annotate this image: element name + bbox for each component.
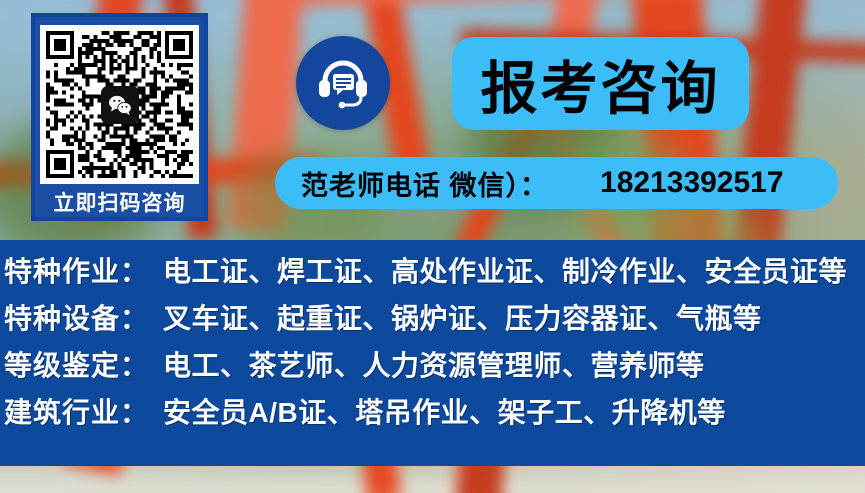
category-value: 电工证、焊工证、高处作业证、制冷作业、安全员证等 [163, 250, 847, 290]
table-row: 特种设备： 叉车证、起重证、锅炉证、压力容器证、气瓶等 [0, 297, 865, 344]
table-row: 特种作业： 电工证、焊工证、高处作业证、制冷作业、安全员证等 [0, 250, 865, 297]
category-label: 特种设备： [4, 297, 149, 337]
table-row: 建筑行业： 安全员A/B证、塔吊作业、架子工、升降机等 [0, 391, 865, 438]
qr-caption: 立即扫码咨询 [54, 184, 186, 224]
contact-pill[interactable]: 范老师电话 微信）： 18213392517 [275, 157, 838, 209]
title-pill: 报考咨询 [452, 37, 749, 130]
category-label: 特种作业： [4, 250, 149, 290]
category-value: 电工、茶艺师、人力资源管理师、营养师等 [163, 344, 705, 384]
category-label: 建筑行业： [4, 391, 149, 431]
course-categories-panel: 特种作业： 电工证、焊工证、高处作业证、制冷作业、安全员证等 特种设备： 叉车证… [0, 240, 865, 466]
category-value: 安全员A/B证、塔吊作业、架子工、升降机等 [163, 391, 726, 431]
headset-support-icon[interactable] [296, 36, 390, 130]
category-label: 等级鉴定： [4, 344, 149, 384]
qr-code-image[interactable] [40, 25, 199, 184]
qr-code-card[interactable]: 立即扫码咨询 [31, 13, 208, 221]
contact-phone-number[interactable]: 18213392517 [600, 166, 784, 200]
category-value: 叉车证、起重证、锅炉证、压力容器证、气瓶等 [163, 297, 762, 337]
wechat-icon [101, 86, 139, 124]
page-title: 报考咨询 [481, 43, 721, 125]
contact-label: 范老师电话 微信）： [301, 164, 548, 203]
promo-poster: 立即扫码咨询 报考咨询 范老师电话 微信）： 18213392517 [0, 0, 865, 493]
table-row: 等级鉴定： 电工、茶艺师、人力资源管理师、营养师等 [0, 344, 865, 391]
